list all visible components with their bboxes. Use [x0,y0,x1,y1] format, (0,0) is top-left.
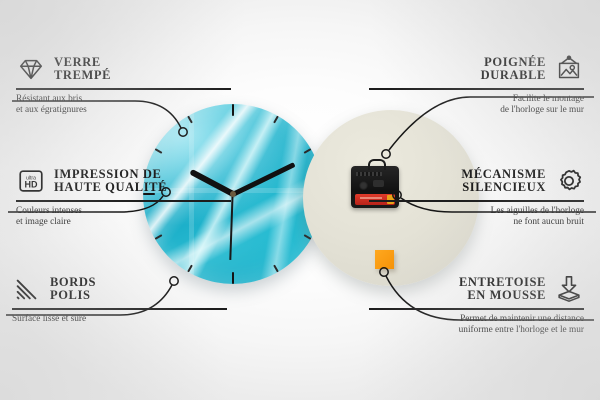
feature-divider [369,200,584,202]
feature-impression-haute-qualite: ultra HD IMPRESSION DEHAUTE QUALITÉ Coul… [16,166,231,228]
feature-divider [12,308,227,310]
feature-description: Surface lisse et sûre [12,314,227,325]
feature-title: ENTRETOISEEN MOUSSE [459,276,546,303]
gear-icon [554,166,584,196]
feature-description: Couleurs intenseset image claire [16,206,231,229]
feature-header: BORDSPOLIS [12,274,227,304]
feature-title: VERRETREMPÉ [54,56,111,83]
mechanism-knob [359,181,368,190]
clock-tick-12 [232,104,234,194]
svg-text:HD: HD [25,180,38,190]
feature-verre-trempe: VERRETREMPÉ Résistant aux briset aux égr… [16,54,231,116]
feature-header: VERRETREMPÉ [16,54,231,84]
feature-description: Facilite le montagede l'horloge sur le m… [369,94,584,117]
infographic-canvas: VERRETREMPÉ Résistant aux briset aux égr… [0,0,600,400]
polished-edge-lines-icon [12,274,42,304]
feature-divider [369,308,584,310]
hanging-picture-frame-icon [554,54,584,84]
feature-description: Résistant aux briset aux égratignures [16,94,231,117]
ultra-hd-badge-icon: ultra HD [16,166,46,196]
feature-description: Les aiguilles de l'horlogene font aucun … [369,206,584,229]
feature-poignee-durable: POIGNÉEDURABLE Facilite le montagede l'h… [369,54,584,116]
feature-header: ultra HD IMPRESSION DEHAUTE QUALITÉ [16,166,231,196]
feature-title: IMPRESSION DEHAUTE QUALITÉ [54,168,167,195]
feature-entretoise-en-mousse: ENTRETOISEEN MOUSSE Permet de maintenir … [369,274,584,336]
feature-title: MÉCANISMESILENCIEUX [461,168,546,195]
feature-header: MÉCANISMESILENCIEUX [369,166,584,196]
feature-description: Permet de maintenir une distanceuniforme… [369,314,584,337]
feature-title: BORDSPOLIS [50,276,96,303]
diamond-icon [16,54,46,84]
feature-bords-polis: BORDSPOLIS Surface lisse et sûre [12,274,227,325]
foam-spacer-arrow-icon [554,274,584,304]
feature-divider [16,200,231,202]
feature-header: POIGNÉEDURABLE [369,54,584,84]
feature-title: POIGNÉEDURABLE [481,56,546,83]
foam-spacer [375,250,394,269]
feature-divider [369,88,584,90]
feature-mecanisme-silencieux: MÉCANISMESILENCIEUX Les aiguilles de l'h… [369,166,584,228]
feature-header: ENTRETOISEEN MOUSSE [369,274,584,304]
feature-divider [16,88,231,90]
